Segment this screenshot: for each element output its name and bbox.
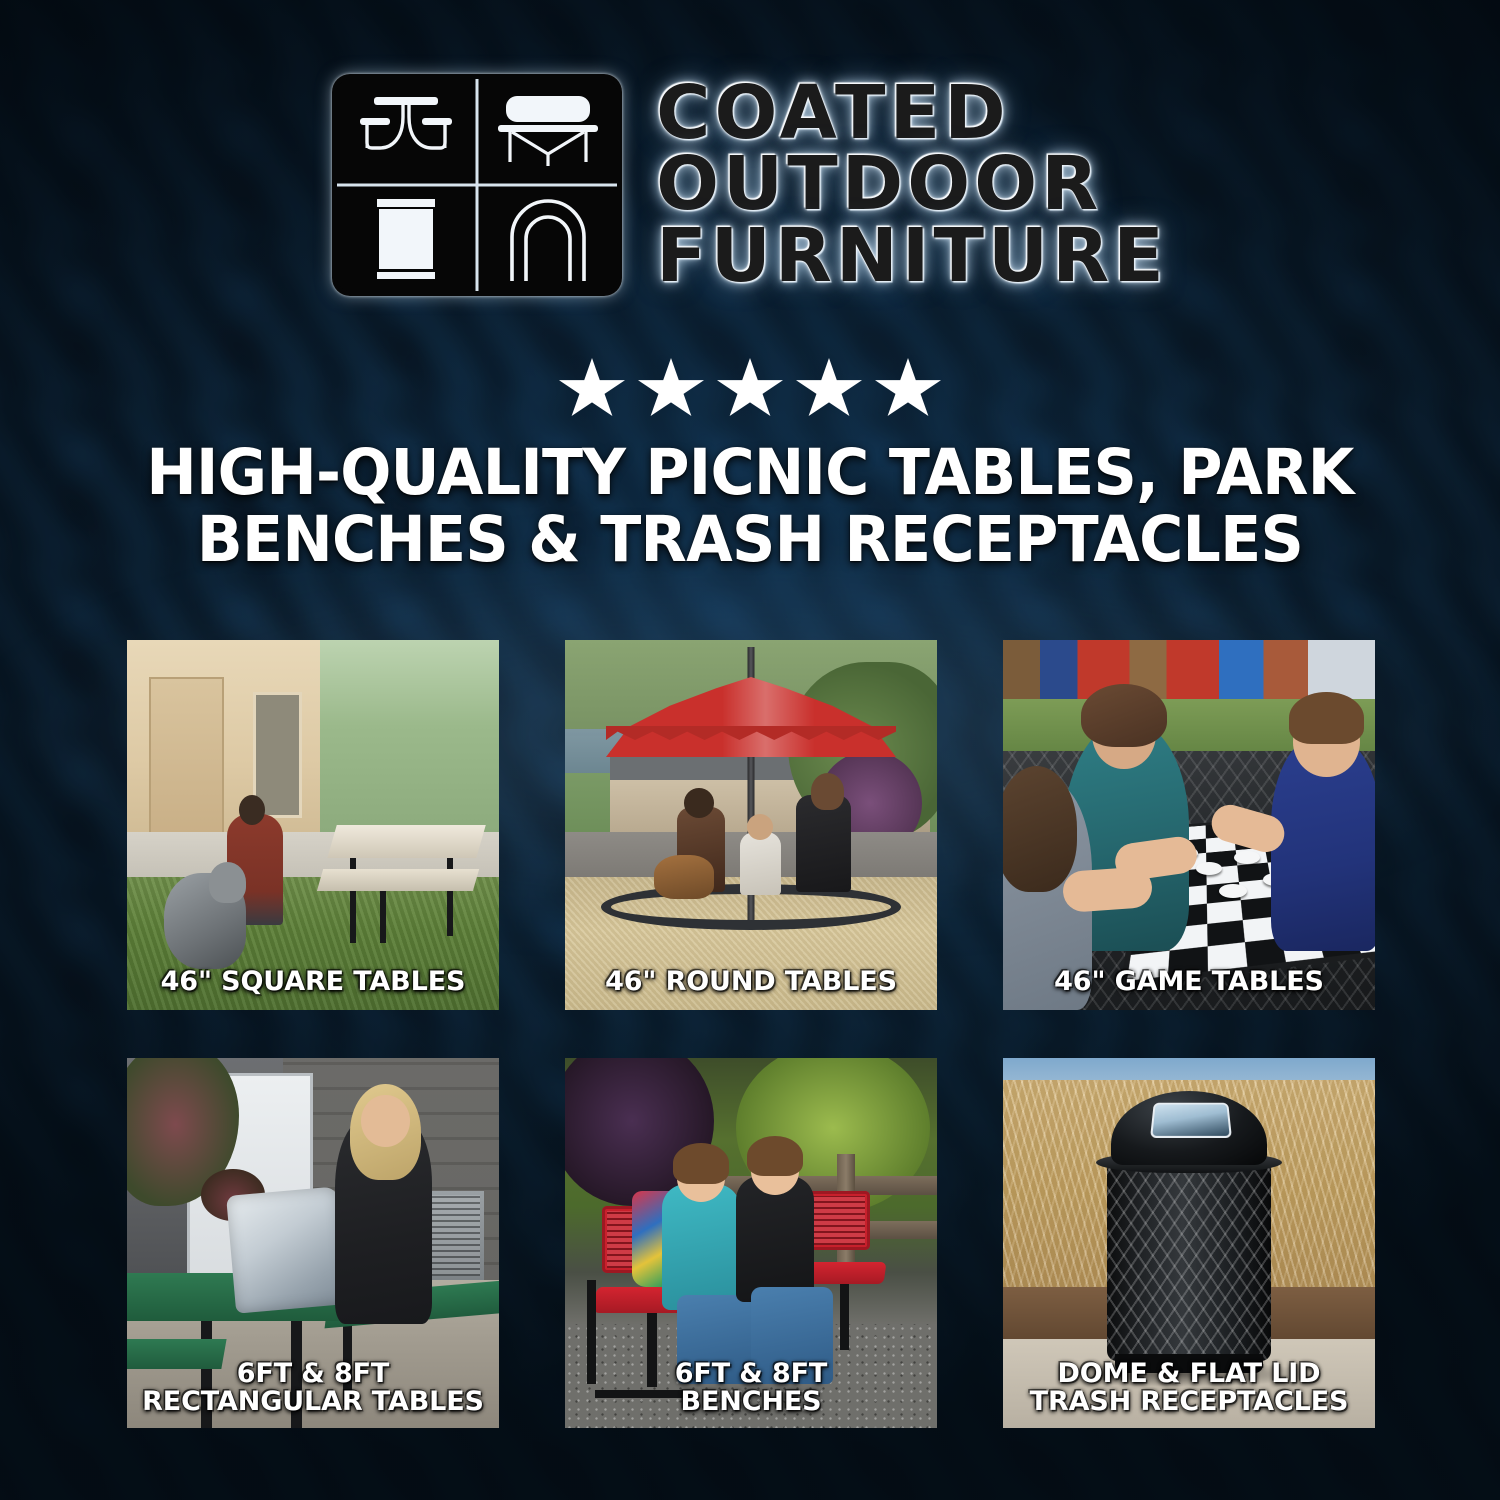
product-tile-game-tables[interactable]: 46" GAME TABLES	[1003, 640, 1375, 1010]
star-icon	[717, 358, 783, 421]
star-icon	[796, 358, 862, 421]
caption-line-2: RECTANGULAR TABLES	[135, 1388, 491, 1416]
product-tile-rectangular-tables[interactable]: 6FT & 8FT RECTANGULAR TABLES	[127, 1058, 499, 1428]
page-title: HIGH-QUALITY PICNIC TABLES, PARK BENCHES…	[91, 440, 1409, 574]
star-icon	[638, 358, 704, 421]
caption-line-1: 46" GAME TABLES	[1011, 968, 1367, 996]
product-photo-round-tables	[565, 640, 937, 1010]
product-grid: 46" SQUARE TABLES	[127, 640, 1374, 1428]
brand-wordmark: COATED OUTDOOR FURNITURE	[656, 76, 1168, 294]
caption-line-1: 6FT & 8FT	[573, 1360, 929, 1388]
product-caption: 46" GAME TABLES	[1011, 968, 1367, 996]
star-icon	[559, 358, 625, 421]
caption-line-1: DOME & FLAT LID	[1011, 1360, 1367, 1388]
product-caption: 6FT & 8FT BENCHES	[573, 1360, 929, 1416]
product-caption: DOME & FLAT LID TRASH RECEPTACLES	[1011, 1360, 1367, 1416]
brand-line-2: OUTDOOR	[656, 147, 1168, 222]
park-bench-icon	[480, 79, 618, 183]
brand-logo[interactable]: COATED OUTDOOR FURNITURE	[0, 74, 1500, 296]
caption-line-1: 6FT & 8FT	[135, 1360, 491, 1388]
logo-mark-icon	[332, 74, 622, 296]
product-tile-square-tables[interactable]: 46" SQUARE TABLES	[127, 640, 499, 1010]
product-photo-game-tables	[1003, 640, 1375, 1010]
headline-line-1: HIGH-QUALITY PICNIC TABLES, PARK	[91, 440, 1409, 507]
star-icon	[875, 358, 941, 421]
caption-line-1: 46" SQUARE TABLES	[135, 968, 491, 996]
brand-line-3: FURNITURE	[656, 219, 1168, 294]
ad-banner: COATED OUTDOOR FURNITURE HIGH-QUALITY PI…	[0, 0, 1500, 1500]
product-caption: 46" ROUND TABLES	[573, 968, 929, 996]
caption-line-2: BENCHES	[573, 1388, 929, 1416]
product-tile-round-tables[interactable]: 46" ROUND TABLES	[565, 640, 937, 1010]
star-rating	[0, 358, 1500, 421]
product-tile-trash-receptacles[interactable]: DOME & FLAT LID TRASH RECEPTACLES	[1003, 1058, 1375, 1428]
brand-line-1: COATED	[656, 76, 1168, 151]
caption-line-1: 46" ROUND TABLES	[573, 968, 929, 996]
picnic-table-icon	[337, 79, 475, 183]
product-photo-square-tables	[127, 640, 499, 1010]
product-caption: 46" SQUARE TABLES	[135, 968, 491, 996]
caption-line-2: TRASH RECEPTACLES	[1011, 1388, 1367, 1416]
product-caption: 6FT & 8FT RECTANGULAR TABLES	[135, 1360, 491, 1416]
product-tile-benches[interactable]: 6FT & 8FT BENCHES	[565, 1058, 937, 1428]
headline-line-2: BENCHES & TRASH RECEPTACLES	[91, 507, 1409, 574]
dome-lid-trash-icon	[480, 188, 618, 292]
flat-lid-trash-icon	[337, 188, 475, 292]
